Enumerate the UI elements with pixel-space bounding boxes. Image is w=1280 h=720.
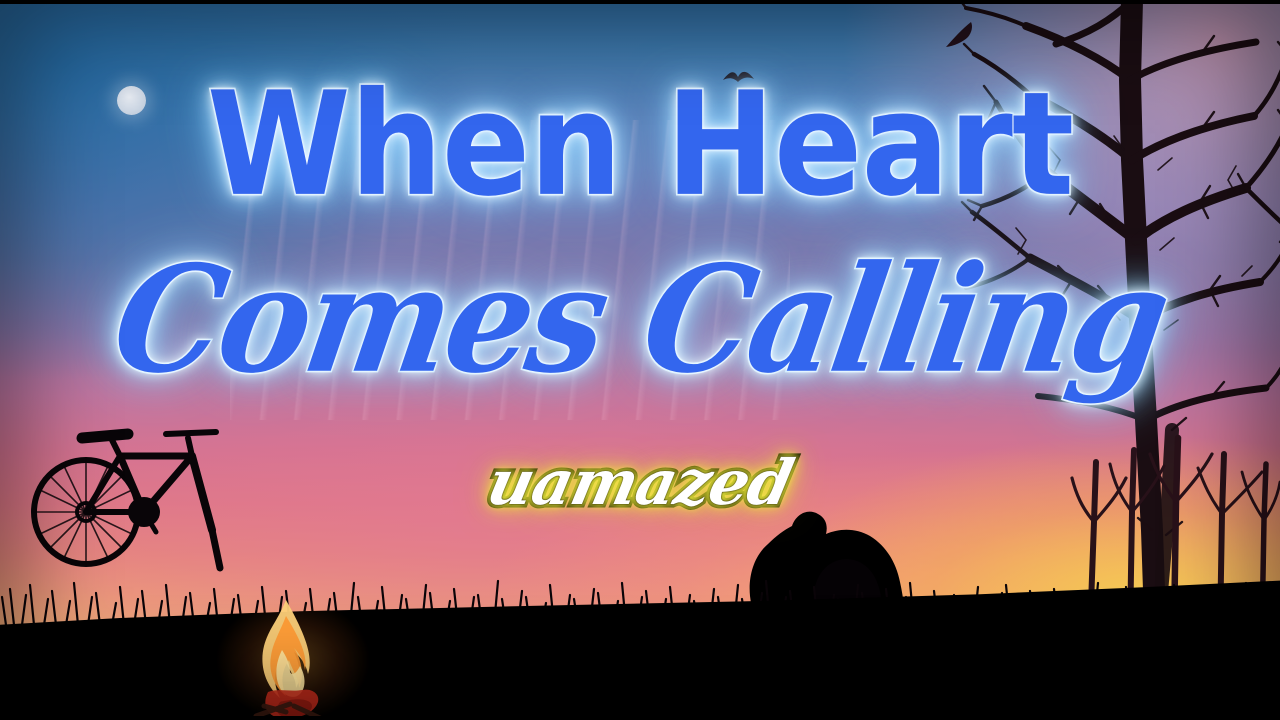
video-frame: When Heart Comes Calling uamazed: [0, 0, 1280, 720]
frame-bottom-bar: [0, 716, 1280, 720]
title-line-2: Comes Calling: [0, 247, 1280, 394]
campfire-icon: [228, 594, 348, 720]
title-line-1: When Heart: [0, 74, 1280, 217]
artist-tag: uamazed: [0, 452, 1280, 514]
frame-top-bar: [0, 0, 1280, 4]
